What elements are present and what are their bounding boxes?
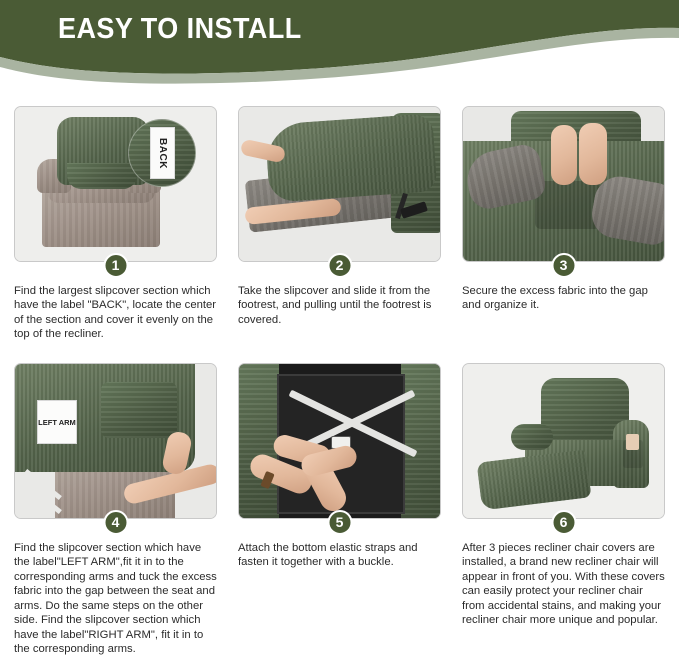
- left-arm-label-tag: LEFT ARM: [37, 400, 77, 444]
- step-badge-5: 5: [327, 510, 352, 535]
- step-card-3: 3 Secure the excess fabric into the gap …: [462, 106, 665, 342]
- slipcover-stretched: [264, 113, 437, 203]
- step-photo-6: [462, 363, 665, 519]
- step-card-6: 6 After 3 pieces recliner chair covers a…: [462, 363, 665, 657]
- seat-gap: [535, 181, 601, 229]
- step-badge-6: 6: [551, 510, 576, 535]
- recliner-left-arm: [511, 424, 553, 450]
- finished-recliner-scene: [463, 364, 664, 518]
- back-label-tag: BACK: [150, 127, 175, 179]
- steps-row-bottom: LEFT ARM 4 Find the slipcover section wh…: [0, 363, 679, 657]
- step-badge-3: 3: [551, 253, 576, 278]
- step-photo-3: [462, 106, 665, 262]
- step-caption-3: Secure the excess fabric into the gap an…: [462, 284, 665, 313]
- underside-straps-scene: [239, 364, 440, 518]
- cover-edge-left: [239, 364, 279, 519]
- slipcover-flap: [101, 382, 177, 438]
- step-caption-6: After 3 pieces recliner chair covers are…: [462, 541, 665, 628]
- step-photo-5: [238, 363, 441, 519]
- step-caption-5: Attach the bottom elastic straps and fas…: [238, 541, 441, 570]
- left-arm-label-text: LEFT ARM: [38, 418, 76, 427]
- strap-cluster: [21, 476, 65, 519]
- step-caption-1: Find the largest slipcover section which…: [14, 284, 217, 342]
- step-caption-2: Take the slipcover and slide it from the…: [238, 284, 441, 327]
- left-arm-scene: LEFT ARM: [15, 364, 216, 518]
- step-card-5: 5 Attach the bottom elastic straps and f…: [238, 363, 441, 657]
- step-card-4: LEFT ARM 4 Find the slipcover section wh…: [14, 363, 217, 657]
- steps-row-top: BACK 1 Find the largest slipcover sectio…: [0, 106, 679, 342]
- step-photo-4: LEFT ARM: [14, 363, 217, 519]
- page-title: EASY TO INSTALL: [58, 13, 302, 46]
- hand-right: [579, 123, 607, 185]
- back-label-text: BACK: [157, 138, 168, 169]
- step-badge-1: 1: [103, 253, 128, 278]
- page-header: EASY TO INSTALL: [0, 0, 679, 92]
- footrest-slide-scene: [239, 107, 440, 261]
- slipcover-drape: [67, 163, 137, 189]
- step-photo-2: [238, 106, 441, 262]
- remote-control: [626, 434, 639, 450]
- step-caption-4: Find the slipcover section which have th…: [14, 541, 217, 657]
- step-photo-1: BACK: [14, 106, 217, 262]
- hand-left: [551, 125, 577, 185]
- cover-edge-right: [401, 364, 441, 519]
- tuck-gap-scene: [463, 107, 664, 261]
- step-badge-2: 2: [327, 253, 352, 278]
- recliner-draped-scene: BACK: [15, 107, 216, 261]
- step-card-1: BACK 1 Find the largest slipcover sectio…: [14, 106, 217, 342]
- step-card-2: 2 Take the slipcover and slide it from t…: [238, 106, 441, 342]
- step-badge-4: 4: [103, 510, 128, 535]
